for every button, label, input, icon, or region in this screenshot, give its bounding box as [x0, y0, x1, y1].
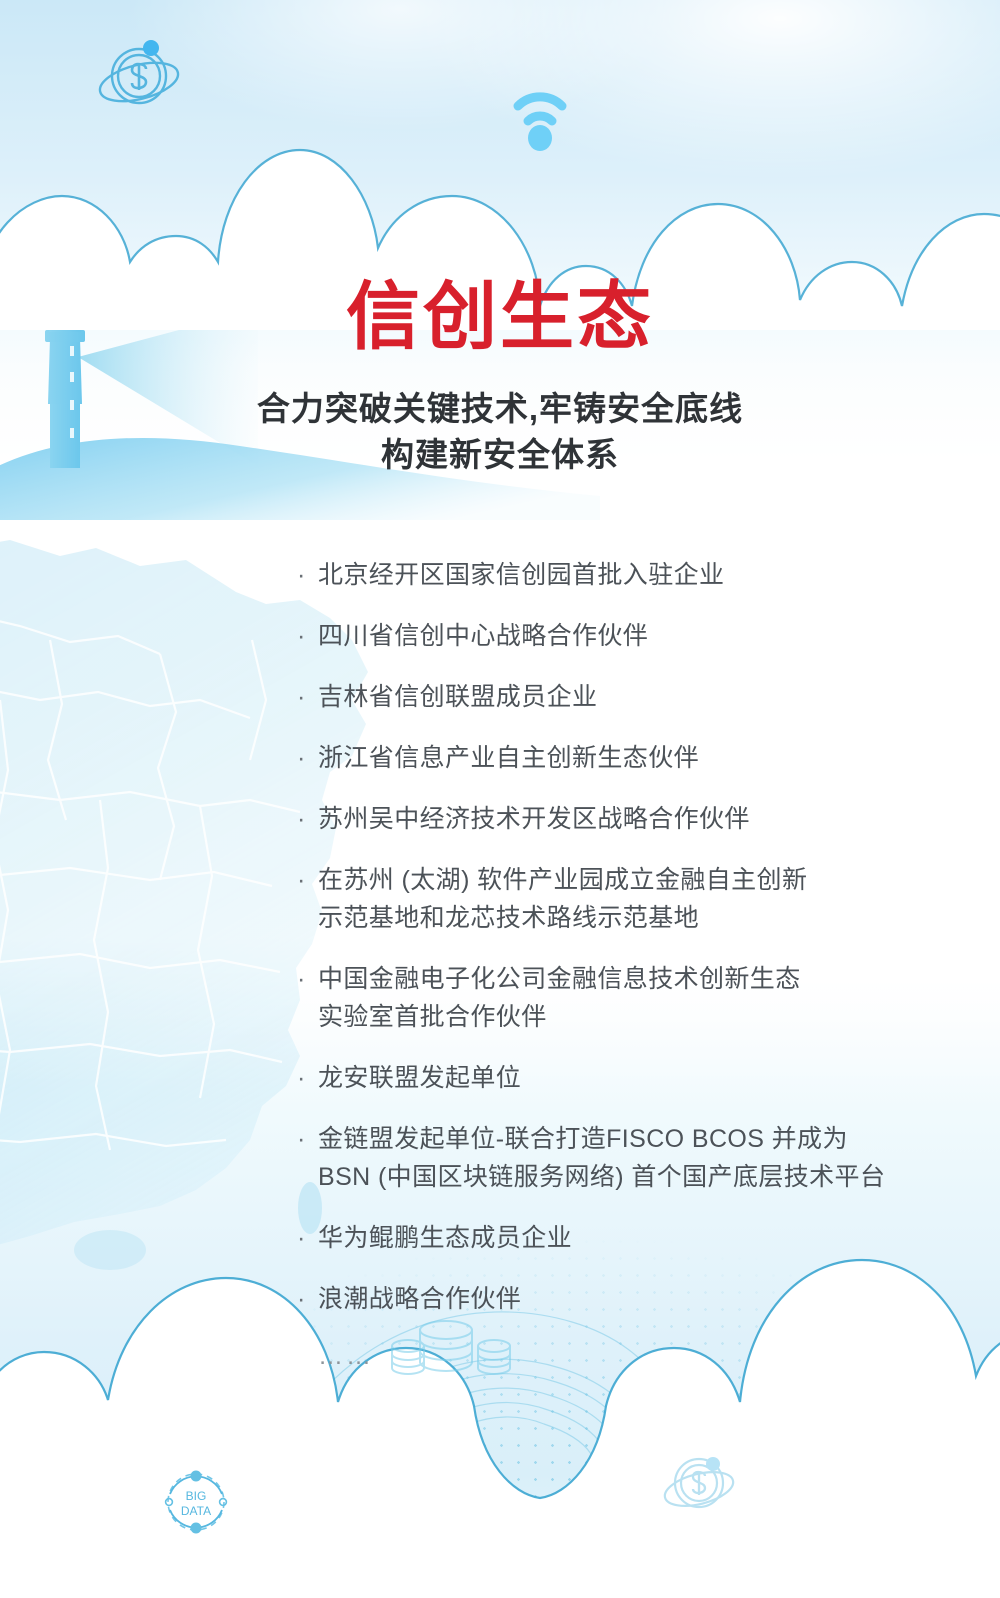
list-item: ·吉林省信创联盟成员企业: [296, 678, 936, 716]
list-item-line: 在苏州 (太湖) 软件产业园成立金融自主创新: [318, 861, 936, 899]
list-item-line: 浙江省信息产业自主创新生态伙伴: [318, 739, 936, 777]
list-item-line: 北京经开区国家信创园首批入驻企业: [318, 556, 936, 594]
bullet-marker-icon: ·: [297, 960, 306, 998]
list-item-line: 中国金融电子化公司金融信息技术创新生态: [318, 960, 936, 998]
list-item-line: 浪潮战略合作伙伴: [318, 1280, 936, 1318]
bullet-marker-icon: ·: [297, 1280, 306, 1318]
bullet-marker-icon: ·: [297, 800, 306, 838]
bullet-marker-icon: ·: [297, 1120, 306, 1158]
bullet-marker-icon: ·: [297, 1219, 306, 1257]
list-item-line: 实验室首批合作伙伴: [318, 998, 936, 1036]
list-item: ·北京经开区国家信创园首批入驻企业: [296, 556, 936, 594]
list-item: ·在苏州 (太湖) 软件产业园成立金融自主创新示范基地和龙芯技术路线示范基地: [296, 861, 936, 937]
list-item-line: 吉林省信创联盟成员企业: [318, 678, 936, 716]
list-item-line: 金链盟发起单位-联合打造FISCO BCOS 并成为: [318, 1120, 936, 1158]
subtitle-line-2: 构建新安全体系: [0, 432, 1000, 478]
list-item: ·浙江省信息产业自主创新生态伙伴: [296, 739, 936, 777]
list-item: ·龙安联盟发起单位: [296, 1059, 936, 1097]
page-subtitle: 合力突破关键技术,牢铸安全底线 构建新安全体系: [0, 386, 1000, 478]
bullet-marker-icon: ·: [297, 1059, 306, 1097]
list-item: ·华为鲲鹏生态成员企业: [296, 1219, 936, 1257]
list-item: ·四川省信创中心战略合作伙伴: [296, 617, 936, 655]
page-title: 信创生态: [0, 277, 1000, 357]
bullet-marker-icon: ·: [297, 617, 306, 655]
list-item: ·中国金融电子化公司金融信息技术创新生态实验室首批合作伙伴: [296, 960, 936, 1036]
bullet-marker-icon: ·: [297, 678, 306, 716]
list-item: ·苏州吴中经济技术开发区战略合作伙伴: [296, 800, 936, 838]
list-item-line: BSN (中国区块链服务网络) 首个国产底层技术平台: [318, 1158, 936, 1196]
poster-canvas: BIG DATA 信创生态 合力突破关键技术,牢铸安全底线 构建新安全体系 ·北…: [0, 0, 1000, 1598]
poster-content: 信创生态 合力突破关键技术,牢铸安全底线 构建新安全体系 ·北京经开区国家信创园…: [0, 0, 1000, 1598]
bullet-marker-icon: ·: [297, 739, 306, 777]
list-item-line: 苏州吴中经济技术开发区战略合作伙伴: [318, 800, 936, 838]
bullet-marker-icon: ·: [297, 556, 306, 594]
list-item: ·浪潮战略合作伙伴: [296, 1280, 936, 1318]
list-ellipsis: ……: [318, 1341, 936, 1371]
subtitle-line-1: 合力突破关键技术,牢铸安全底线: [0, 386, 1000, 432]
list-item-line: 龙安联盟发起单位: [318, 1059, 936, 1097]
list-item-line: 华为鲲鹏生态成员企业: [318, 1219, 936, 1257]
list-item-line: 四川省信创中心战略合作伙伴: [318, 617, 936, 655]
credentials-list: ·北京经开区国家信创园首批入驻企业·四川省信创中心战略合作伙伴·吉林省信创联盟成…: [296, 556, 936, 1371]
list-item-line: 示范基地和龙芯技术路线示范基地: [318, 899, 936, 937]
bullet-marker-icon: ·: [297, 861, 306, 899]
list-item: ·金链盟发起单位-联合打造FISCO BCOS 并成为BSN (中国区块链服务网…: [296, 1120, 936, 1196]
